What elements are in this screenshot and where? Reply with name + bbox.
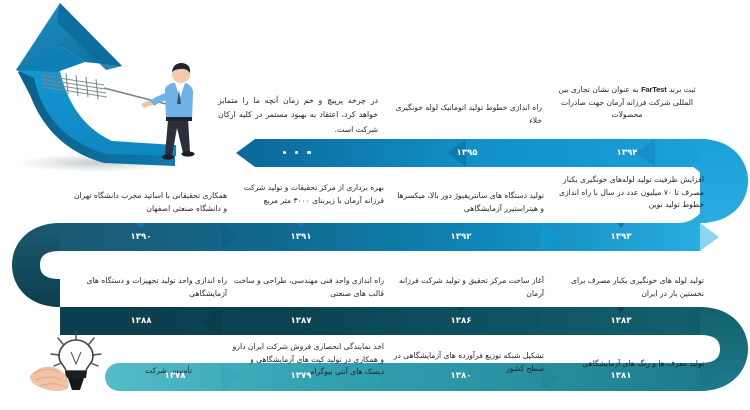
quote-dot: [295, 151, 298, 154]
event-year-1387[interactable]: ۱۳۸۷: [226, 316, 376, 326]
event-year-1383[interactable]: ۱۳۸۳: [546, 316, 696, 326]
hand-drawing-lightbulb-icon: [24, 330, 128, 392]
marker-nib: [65, 371, 87, 378]
event-text-1391: بهره برداری از مرکز تحقیقات و تولید شرکت…: [232, 182, 384, 207]
event-text-1394: ثبت برند FarTest به عنوان نشان تجاری بین…: [552, 84, 702, 122]
event-text-1393: افزایش ظرفیت تولید لوله‌های خونگیری یکبا…: [552, 174, 704, 212]
row-1-left-tip: [236, 139, 255, 167]
event-year-1386[interactable]: ۱۳۸۶: [386, 316, 536, 326]
event-text-1386: آغاز ساخت مرکز تحقیق و تولید شرکت فرزانه…: [392, 275, 544, 300]
event-year-1381[interactable]: ۱۳۸۱: [546, 371, 696, 381]
infographic-canvas: در چرخه پرپیچ و خم زمان آنچه ما را متمای…: [0, 0, 750, 410]
hand: [30, 367, 69, 391]
vision-quote: در چرخه پرپیچ و خم زمان آنچه ما را متمای…: [218, 94, 378, 137]
event-text-1395: راه اندازی خطوط تولید اتوماتیک لوله خونگ…: [392, 102, 542, 127]
quote-dot: [283, 151, 286, 154]
quote-dot: [307, 151, 310, 154]
event-year-1380[interactable]: ۱۳۸۰: [386, 371, 536, 381]
event-text-1387: راه اندازی واحد فنی مهندسی، طراحی و ساخت…: [232, 275, 384, 300]
event-text-1392: تولید دستگاه های سانتریفیوژ دور بالا، می…: [392, 190, 544, 215]
marker-body: [68, 378, 84, 390]
event-year-1392[interactable]: ۱۳۹۲: [386, 232, 536, 242]
event-year-1394[interactable]: ۱۳۹۴: [552, 148, 702, 158]
event-year-1379[interactable]: ۱۳۷۹: [226, 371, 376, 381]
event-text-1390: همکاری تحقیقاتی با اساتید مجرب دانشگاه ت…: [72, 190, 227, 215]
event-year-1378[interactable]: ۱۳۷۸: [120, 371, 230, 381]
event-year-1390[interactable]: ۱۳۹۰: [66, 232, 216, 242]
event-year-1391[interactable]: ۱۳۹۱: [226, 232, 376, 242]
event-text-1383: تولید لوله های خونگیری یکبار مصرف برای ن…: [552, 275, 704, 300]
brand-name-fartest: FarTest: [641, 85, 666, 94]
event-text-1381: تولید معرف ها و رنگ های آزمایشگاهی: [552, 358, 704, 371]
quote-dots: [283, 151, 311, 154]
event-year-1393[interactable]: ۱۳۹۳: [546, 232, 696, 242]
event-year-1395[interactable]: ۱۳۹۵: [392, 148, 542, 158]
lightbulb-rays: [51, 332, 101, 366]
event-year-1388[interactable]: ۱۳۸۸: [66, 316, 216, 326]
event-text-1388: راه اندازی واحد تولید تجهیزات و دستگاه ه…: [72, 275, 227, 300]
bend-left-mid: [12, 223, 60, 307]
event-text-1394-before: ثبت برند: [667, 85, 696, 94]
lightbulb-filament: [71, 352, 81, 364]
